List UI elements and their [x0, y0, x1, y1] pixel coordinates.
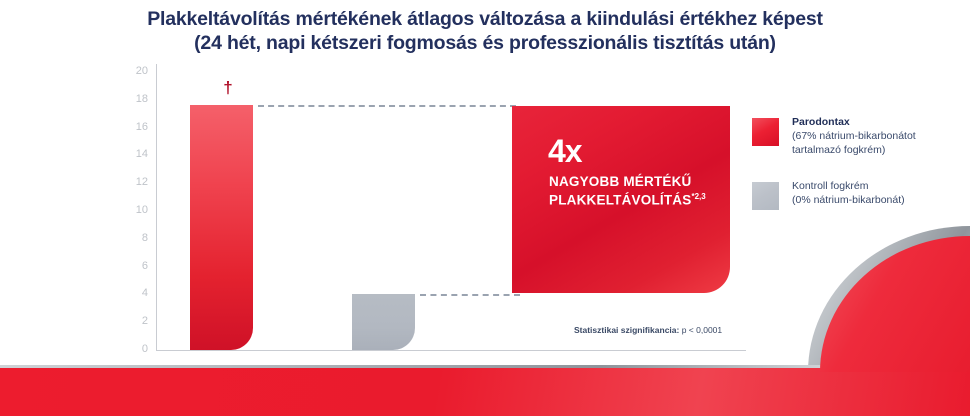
bar-parodontax	[190, 105, 253, 350]
significance-note: Statisztikai szignifikancia: p < 0,0001	[574, 325, 722, 335]
y-axis-line	[156, 64, 157, 350]
callout-line-1: NAGYOBB MÉRTÉKŰ	[549, 174, 692, 191]
significance-label: Statisztikai szignifikancia:	[574, 325, 679, 335]
legend-title-parodontax: Parodontax	[792, 116, 964, 130]
y-axis-tick-labels: 20181614121086420	[108, 0, 148, 370]
brand-swoosh	[790, 216, 970, 416]
callout-superscript: *2,3	[691, 192, 705, 201]
chart-legend: Parodontax (67% nátrium-bikarbonátot tar…	[752, 116, 964, 230]
swoosh-red-layer	[820, 236, 970, 372]
y-tick-6: 6	[110, 260, 148, 272]
y-tick-4: 4	[110, 287, 148, 299]
y-tick-8: 8	[110, 232, 148, 244]
callout-box: 4x NAGYOBB MÉRTÉKŰ PLAKKELTÁVOLÍTÁS*2,3	[512, 106, 730, 293]
y-tick-18: 18	[110, 93, 148, 105]
legend-item-parodontax: Parodontax (67% nátrium-bikarbonátot tar…	[752, 116, 964, 158]
y-tick-16: 16	[110, 121, 148, 133]
legend-subtitle-control: (0% nátrium-bikarbonát)	[792, 194, 964, 208]
x-axis-line	[156, 350, 746, 351]
dagger-annotation: †	[213, 79, 243, 96]
legend-swatch-parodontax	[752, 118, 779, 146]
dashed-connector-top	[258, 105, 516, 107]
legend-text-control: Kontroll fogkrém (0% nátrium-bikarbonát)	[792, 180, 964, 208]
y-tick-14: 14	[110, 148, 148, 160]
dashed-connector-bottom	[420, 294, 520, 296]
legend-subtitle-parodontax: (67% nátrium-bikarbonátot tartalmazó fog…	[792, 130, 964, 158]
callout-line-2: PLAKKELTÁVOLÍTÁS*2,3	[549, 192, 706, 209]
legend-text-parodontax: Parodontax (67% nátrium-bikarbonátot tar…	[792, 116, 964, 158]
bar-control-toothpaste	[352, 294, 415, 350]
y-tick-12: 12	[110, 176, 148, 188]
y-tick-0: 0	[110, 343, 148, 355]
y-tick-20: 20	[110, 65, 148, 77]
callout-multiplier: 4x	[548, 135, 582, 167]
legend-swatch-control	[752, 182, 779, 210]
significance-value: p < 0,0001	[682, 325, 722, 335]
legend-item-control: Kontroll fogkrém (0% nátrium-bikarbonát)	[752, 180, 964, 208]
y-tick-10: 10	[110, 204, 148, 216]
callout-line-2-text: PLAKKELTÁVOLÍTÁS	[549, 193, 691, 208]
y-tick-2: 2	[110, 315, 148, 327]
legend-title-control: Kontroll fogkrém	[792, 180, 964, 194]
